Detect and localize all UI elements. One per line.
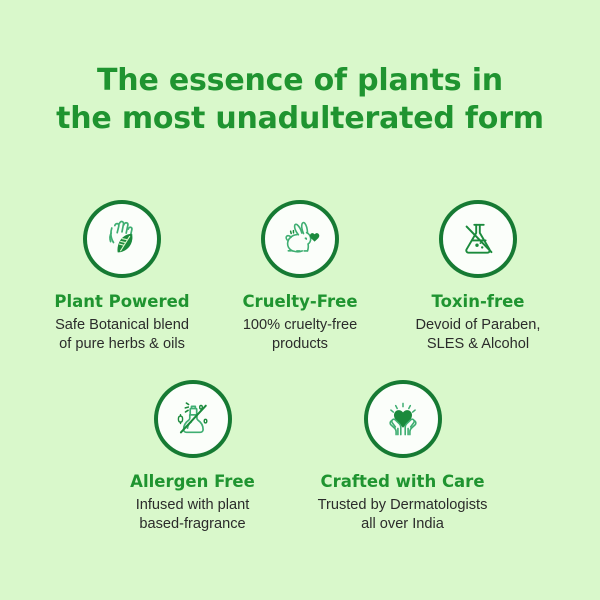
feature-title: Allergen Free — [130, 472, 255, 492]
feature-title: Toxin-free — [432, 292, 525, 312]
page-title-line-2: the most unadulterated form — [0, 100, 600, 138]
hand-holding-leaf-icon — [83, 200, 161, 278]
feature-card-toxin-free: Toxin-free Devoid of Paraben, SLES & Alc… — [389, 200, 567, 354]
hands-holding-heart-icon — [364, 380, 442, 458]
page-title-line-1: The essence of plants in — [0, 62, 600, 100]
feature-title: Plant Powered — [54, 292, 189, 312]
no-fragrance-spray-icon — [154, 380, 232, 458]
feature-row-top: Plant Powered Safe Botanical blend of pu… — [0, 200, 600, 354]
feature-title: Cruelty-Free — [242, 292, 357, 312]
feature-description: 100% cruelty-free products — [243, 316, 357, 354]
no-chemical-flask-icon — [439, 200, 517, 278]
feature-description: Safe Botanical blend of pure herbs & oil… — [55, 316, 189, 354]
feature-card-plant-powered: Plant Powered Safe Botanical blend of pu… — [33, 200, 211, 354]
feature-card-cruelty-free: Cruelty-Free 100% cruelty-free products — [211, 200, 389, 354]
feature-description: Trusted by Dermatologists all over India — [318, 496, 488, 534]
feature-row-bottom: Allergen Free Infused with plant based-f… — [0, 380, 600, 534]
page-title: The essence of plants in the most unadul… — [0, 62, 600, 138]
feature-title: Crafted with Care — [320, 472, 484, 492]
rabbit-heart-icon — [261, 200, 339, 278]
feature-card-crafted-with-care: Crafted with Care Trusted by Dermatologi… — [295, 380, 510, 534]
feature-description: Infused with plant based-fragrance — [136, 496, 250, 534]
feature-description: Devoid of Paraben, SLES & Alcohol — [416, 316, 541, 354]
promo-feature-panel: The essence of plants in the most unadul… — [0, 0, 600, 600]
feature-card-allergen-free: Allergen Free Infused with plant based-f… — [90, 380, 295, 534]
